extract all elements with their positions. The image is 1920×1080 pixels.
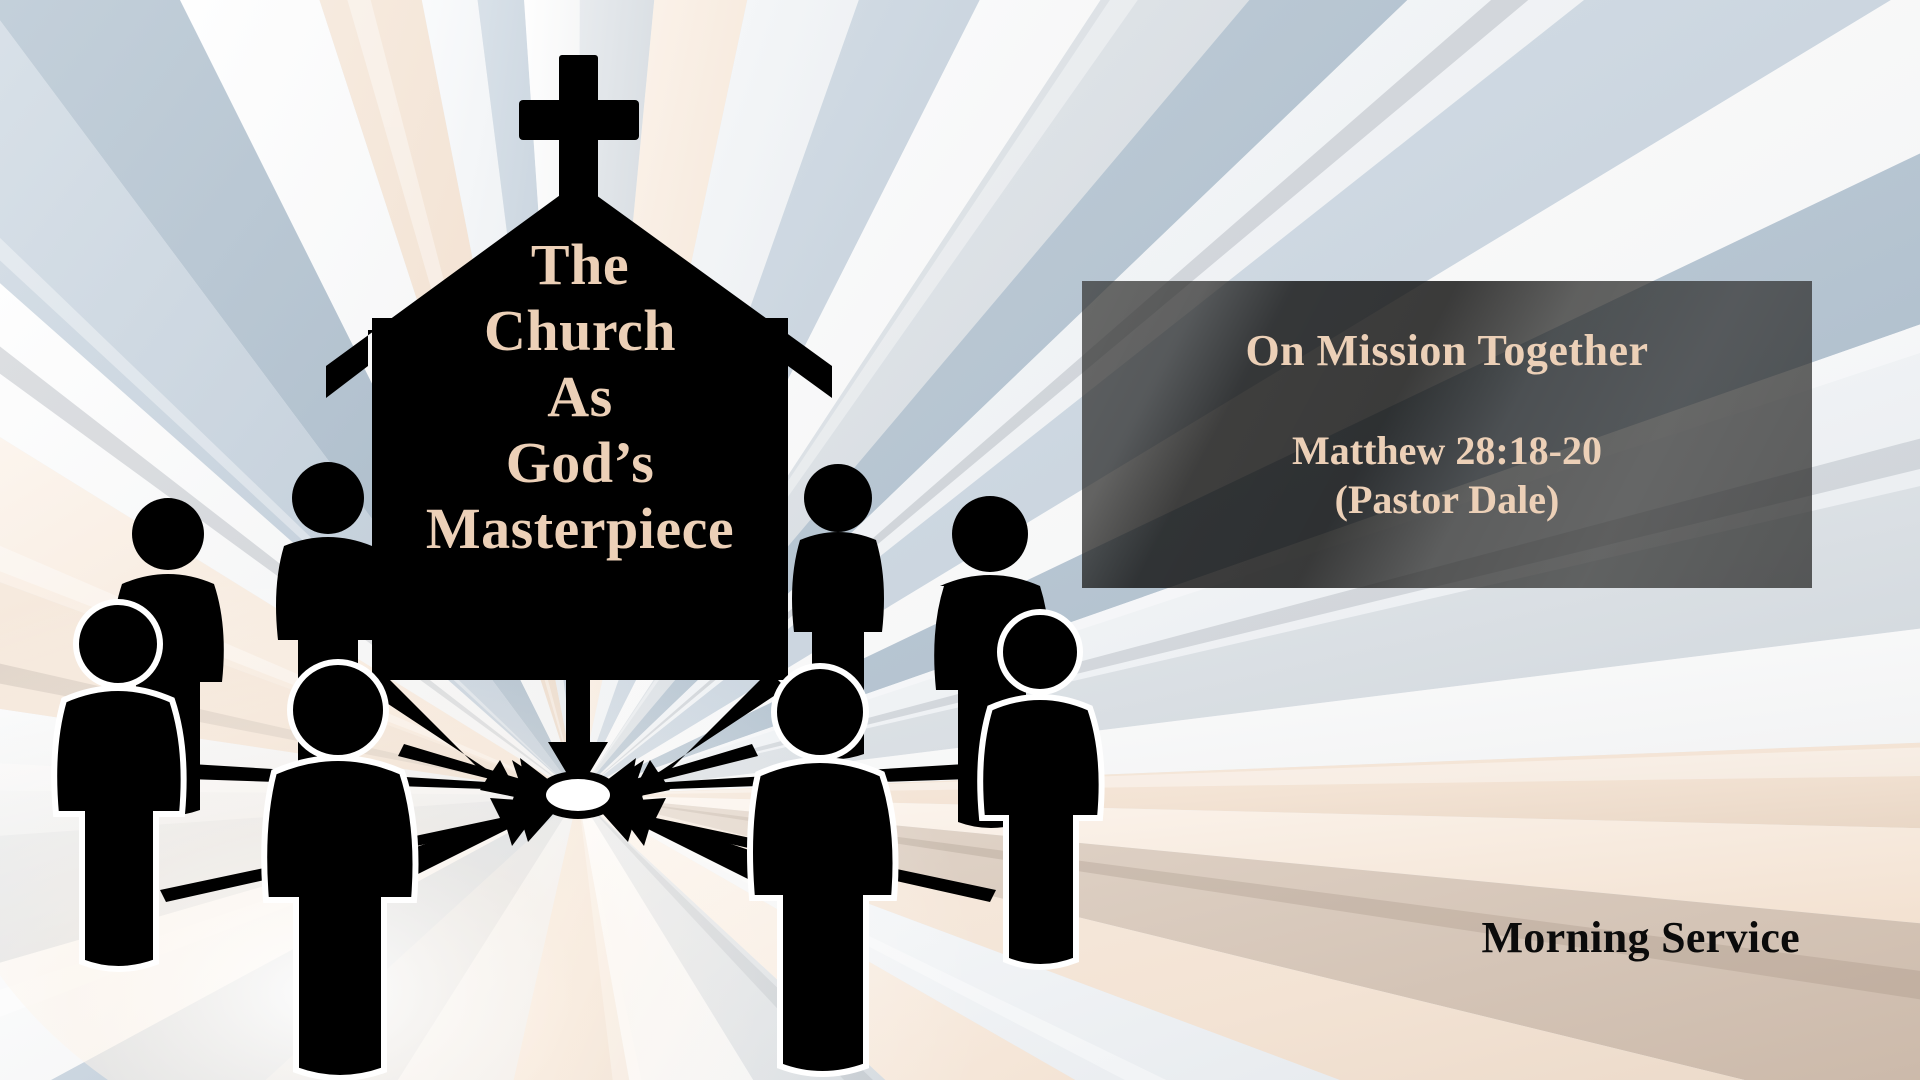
person-silhouette (264, 662, 415, 1078)
scripture-reference: Matthew 28:18-20 (1292, 429, 1602, 474)
sermon-title: On Mission Together (1245, 327, 1648, 375)
presentation-slide: The Church As God’s Masterpiece On Missi… (0, 0, 1920, 1080)
person-silhouette (750, 666, 896, 1074)
panel-content: On Mission Together Matthew 28:18-20 (Pa… (1082, 281, 1812, 588)
service-label: Morning Service (1481, 912, 1800, 963)
church-building-silhouette (326, 55, 832, 680)
center-ellipse-marker (536, 771, 620, 819)
sermon-info-panel: On Mission Together Matthew 28:18-20 (Pa… (1082, 281, 1812, 588)
speaker-name: (Pastor Dale) (1335, 478, 1560, 523)
